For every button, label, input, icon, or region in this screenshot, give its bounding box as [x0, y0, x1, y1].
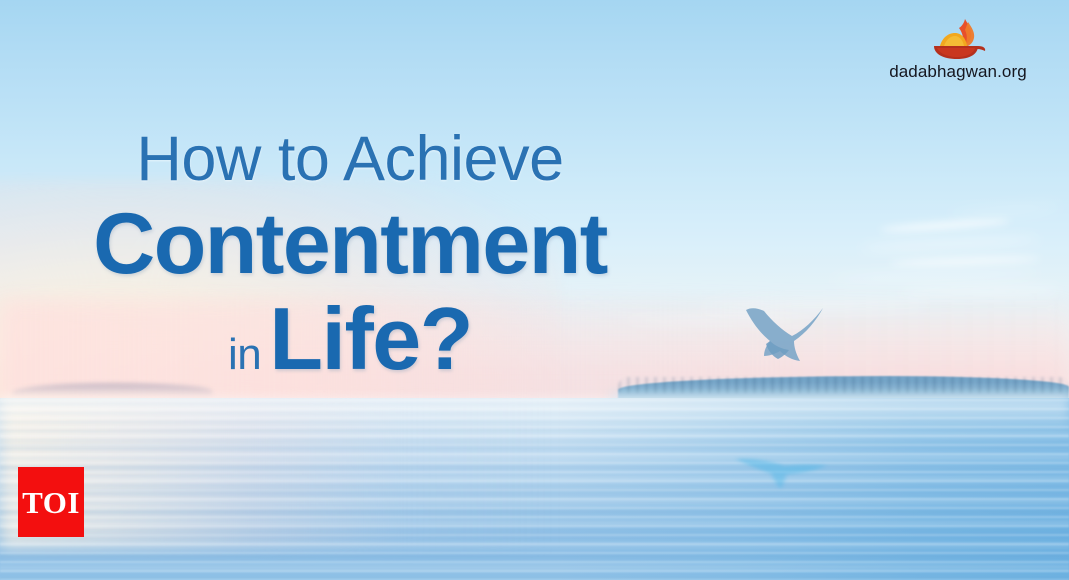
toi-logo-label: TOI [22, 487, 80, 518]
brand-name[interactable]: dadabhagwan.org [883, 62, 1033, 82]
water-ripples-broad [0, 430, 1069, 580]
flying-bird-icon [742, 306, 828, 370]
distant-shore-left [12, 383, 212, 397]
toi-logo[interactable]: TOI [18, 467, 84, 537]
headline-line-1: How to Achieve [0, 128, 700, 191]
headline-line-3-prefix: in [228, 330, 261, 379]
brand-block[interactable]: dadabhagwan.org [883, 18, 1033, 82]
waterline-mist [0, 398, 1069, 432]
headline-line-3: inLife? [0, 295, 700, 383]
headline-line-3-emphasis: Life? [269, 289, 472, 388]
headline-line-2: Contentment [0, 201, 700, 287]
headline-block: How to Achieve Contentment inLife? [0, 128, 700, 383]
diya-lamp-flame-icon [928, 18, 988, 60]
poster-canvas: How to Achieve Contentment inLife? dadab… [0, 0, 1069, 580]
